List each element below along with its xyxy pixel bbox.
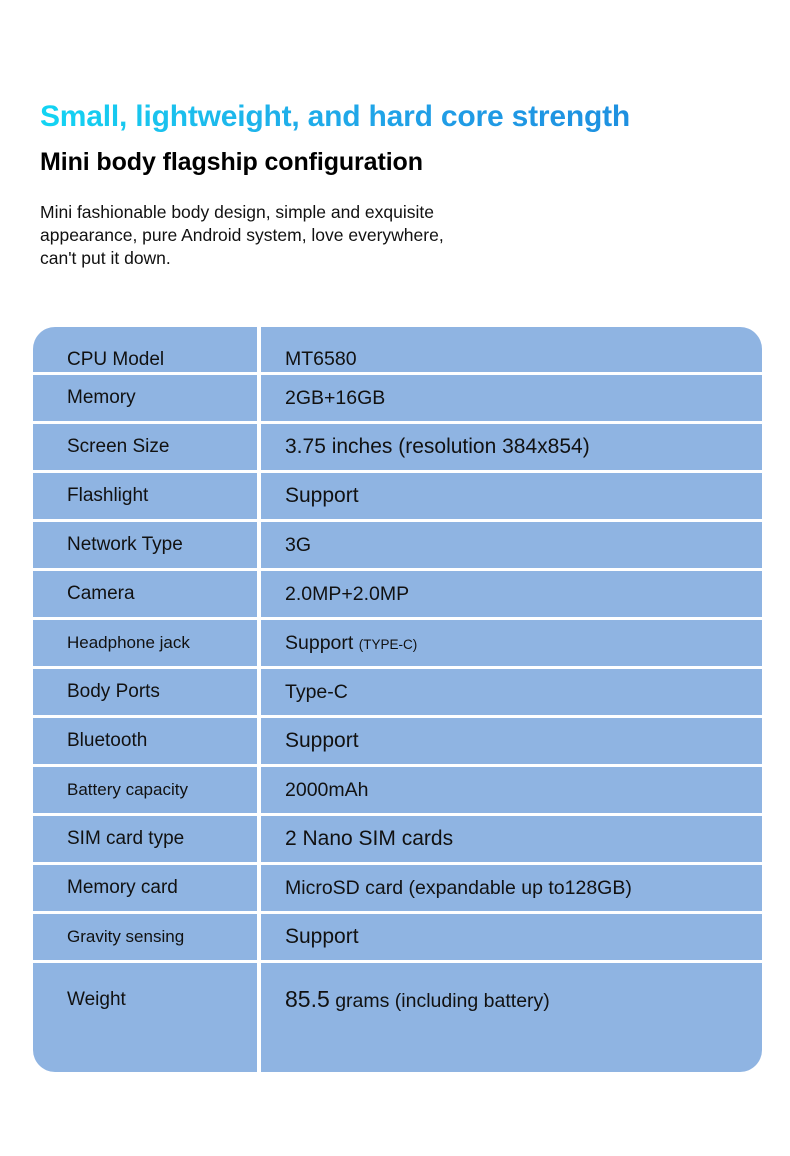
spec-value: Support (TYPE-C)	[257, 632, 762, 655]
spec-value: Support	[257, 729, 762, 753]
spec-value-text: 2 Nano SIM cards	[285, 827, 453, 850]
spec-label: Weight	[33, 989, 257, 1011]
table-row: Headphone jackSupport (TYPE-C)	[33, 620, 762, 669]
page-subheadline: Mini body flagship configuration	[40, 148, 423, 177]
table-row: Body PortsType-C	[33, 669, 762, 718]
spec-value: MicroSD card (expandable up to128GB)	[257, 877, 762, 900]
spec-value: 2GB+16GB	[257, 387, 762, 410]
spec-value: MT6580	[257, 348, 762, 371]
spec-label: Body Ports	[33, 681, 257, 703]
page-headline: Small, lightweight, and hard core streng…	[40, 100, 630, 134]
spec-value-text: grams (including battery)	[335, 990, 550, 1012]
spec-label: Network Type	[33, 534, 257, 556]
spec-value: 2 Nano SIM cards	[257, 827, 762, 851]
spec-value: 2.0MP+2.0MP	[257, 583, 762, 606]
description-line-3: can't put it down.	[40, 247, 600, 270]
spec-label: Battery capacity	[33, 780, 257, 800]
table-row: CPU ModelMT6580	[33, 327, 762, 375]
spec-value: Type-C	[257, 681, 762, 704]
description-line-2: appearance, pure Android system, love ev…	[40, 224, 600, 247]
table-row: Memory2GB+16GB	[33, 375, 762, 424]
spec-label: Headphone jack	[33, 633, 257, 653]
table-row: FlashlightSupport	[33, 473, 762, 522]
description-line-1: Mini fashionable body design, simple and…	[40, 201, 600, 224]
spec-value: Support	[257, 484, 762, 508]
spec-label: CPU Model	[33, 349, 257, 371]
product-spec-page: Small, lightweight, and hard core streng…	[0, 0, 790, 1156]
spec-value: 3.75 inches (resolution 384x854)	[257, 435, 762, 459]
table-row: Gravity sensingSupport	[33, 914, 762, 963]
spec-value-text: Support	[285, 484, 359, 507]
spec-label: Bluetooth	[33, 730, 257, 752]
table-row: Weight85.5 grams (including battery)	[33, 963, 762, 1036]
spec-value-text: MicroSD card (expandable up to128GB)	[285, 877, 632, 899]
spec-value-text: Support	[285, 729, 359, 752]
spec-value-text: Support	[285, 632, 353, 654]
specification-rows: CPU ModelMT6580Memory2GB+16GBScreen Size…	[33, 327, 762, 1072]
spec-label: Memory	[33, 387, 257, 409]
spec-value-text: Type-C	[285, 681, 348, 703]
spec-value-text: 3.75 inches (resolution 384x854)	[285, 435, 590, 458]
spec-label: Flashlight	[33, 485, 257, 507]
table-row: Memory cardMicroSD card (expandable up t…	[33, 865, 762, 914]
spec-value: 2000mAh	[257, 779, 762, 802]
spec-value-text: 2000mAh	[285, 779, 368, 801]
spec-label: SIM card type	[33, 828, 257, 850]
spec-value-emphasis: 85.5	[285, 986, 330, 1012]
spec-value-suffix: (TYPE-C)	[359, 637, 418, 652]
table-row: Screen Size3.75 inches (resolution 384x8…	[33, 424, 762, 473]
spec-label: Gravity sensing	[33, 927, 257, 947]
table-row: BluetoothSupport	[33, 718, 762, 767]
product-description: Mini fashionable body design, simple and…	[40, 201, 600, 270]
spec-value: Support	[257, 925, 762, 949]
specification-table: CPU ModelMT6580Memory2GB+16GBScreen Size…	[33, 327, 762, 1072]
table-row: Camera2.0MP+2.0MP	[33, 571, 762, 620]
table-row: Battery capacity2000mAh	[33, 767, 762, 816]
spec-value-text: 3G	[285, 534, 311, 556]
spec-value: 85.5 grams (including battery)	[257, 986, 762, 1013]
spec-label: Memory card	[33, 877, 257, 899]
table-row: SIM card type2 Nano SIM cards	[33, 816, 762, 865]
spec-value-text: 2GB+16GB	[285, 387, 385, 409]
spec-label: Camera	[33, 583, 257, 605]
spec-value-text: 2.0MP+2.0MP	[285, 583, 409, 605]
spec-value: 3G	[257, 534, 762, 557]
spec-value-text: MT6580	[285, 348, 357, 370]
spec-value-text: Support	[285, 925, 359, 948]
spec-label: Screen Size	[33, 436, 257, 458]
table-row: Network Type3G	[33, 522, 762, 571]
